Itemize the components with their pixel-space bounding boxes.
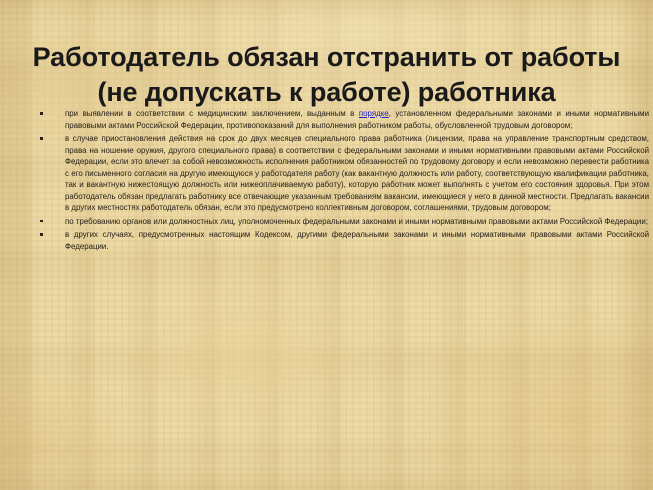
slide-title: Работодатель обязан отстранить от работы… [26, 40, 627, 110]
list-item: в других случаях, предусмотренных настоя… [33, 229, 649, 252]
slide-title-line-2: (не допускать к работе) работника [26, 75, 627, 110]
list-item-text: в случае приостановления действия на сро… [65, 133, 649, 214]
list-item: при выявлении в соответствии с медицинск… [33, 108, 649, 131]
slide-title-line-1: Работодатель обязан отстранить от работы [26, 40, 627, 75]
bullet-list: при выявлении в соответствии с медицинск… [33, 108, 649, 253]
square-bullet-icon [40, 233, 43, 236]
list-item-text-before-link: при выявлении в соответствии с медицинск… [65, 109, 359, 118]
square-bullet-icon [40, 112, 43, 115]
square-bullet-icon [40, 137, 43, 140]
list-item-text: в других случаях, предусмотренных настоя… [65, 229, 649, 252]
list-item: в случае приостановления действия на сро… [33, 133, 649, 214]
slide-content: Работодатель обязан отстранить от работы… [0, 0, 653, 490]
slide-canvas: Работодатель обязан отстранить от работы… [0, 0, 653, 490]
list-item: по требованию органов или должностных ли… [33, 216, 649, 228]
poryadke-link[interactable]: порядке [359, 109, 389, 118]
list-item-text: по требованию органов или должностных ли… [65, 216, 649, 228]
square-bullet-icon [40, 220, 43, 223]
list-item-text: при выявлении в соответствии с медицинск… [65, 108, 649, 131]
